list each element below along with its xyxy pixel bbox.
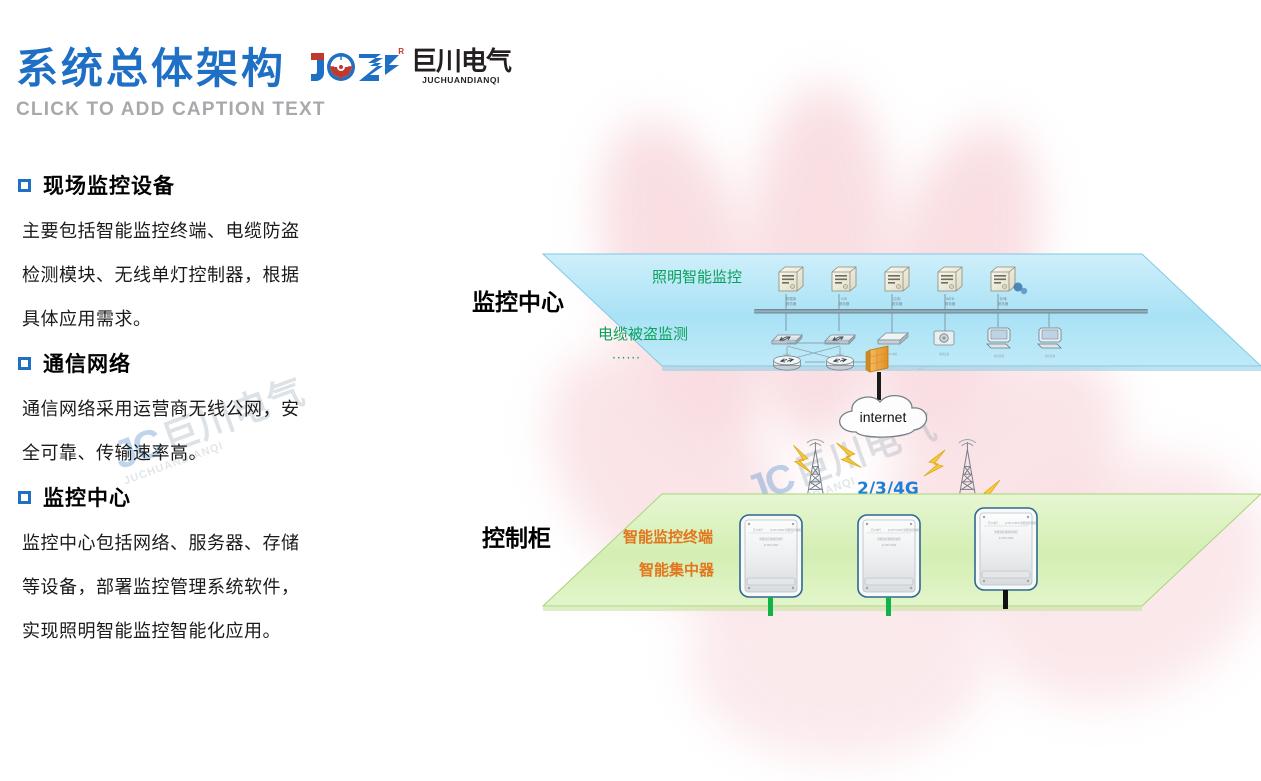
cable-connector [768, 597, 773, 616]
square-bullet-icon [18, 491, 31, 504]
page-header: 系统总体架构 CLICK TO ADD CAPTION TEXT [0, 0, 1261, 140]
section-body: 监控中心包括网络、服务器、存储 等设备，部署监控管理系统软件， 实现照明智能监控… [18, 522, 418, 654]
body-line: 等设备，部署监控管理系统软件， [22, 566, 418, 610]
lightning-bolt-icon [791, 445, 815, 473]
cell-tower-icon [959, 440, 976, 494]
top-tag-lighting: 照明智能监控 [652, 268, 742, 286]
svg-text:智能监控终端控制柜: 智能监控终端控制柜 [994, 530, 1018, 534]
server-icon [779, 267, 803, 291]
section-header: 监控中心 [18, 482, 418, 512]
svg-text:WEB: WEB [946, 297, 955, 301]
power-device-icon [934, 331, 954, 345]
network-bus [754, 309, 1148, 314]
server-icon [938, 267, 962, 291]
body-line: 实现照明智能监控智能化应用。 [22, 610, 418, 654]
top-platform-label: 监控中心 [472, 289, 564, 316]
svg-text:服务器: 服务器 [998, 301, 1009, 306]
router-icon [774, 356, 801, 370]
top-tag-more: ······ [612, 351, 641, 365]
storage-icon [1021, 288, 1027, 294]
svg-text:服务器: 服务器 [839, 301, 850, 306]
svg-text:智能监控终端控制柜: 智能监控终端控制柜 [759, 537, 783, 541]
bottom-platform-label: 控制柜 [482, 525, 551, 552]
svg-text:智能监控终端控制柜: 智能监控终端控制柜 [877, 537, 901, 541]
workstation-icon [1038, 328, 1061, 348]
brand-name-en: JUCHUANDIANQI [411, 75, 511, 85]
svg-text:JC-RTU-860 智能监控终端: JC-RTU-860 智能监控终端 [887, 528, 919, 532]
page-title: 系统总体架构 [16, 35, 286, 96]
architecture-diagram: 监控中心 照明智能监控 电缆被盗监测 ······ 数据库 服务器 GIS 服务… [440, 150, 1261, 710]
server-icon [991, 267, 1015, 291]
svg-text:监控终端: 监控终端 [994, 354, 1005, 358]
router-icon [827, 356, 854, 370]
svg-text:电源设备: 电源设备 [939, 352, 950, 356]
registered-trademark-icon: R [398, 47, 404, 56]
body-line: 主要包括智能监控终端、电缆防盗 [22, 210, 418, 254]
server-icon [832, 267, 856, 291]
svg-text:JC-RTU-860 智能监控终端: JC-RTU-860 智能监控终端 [1004, 521, 1036, 525]
cloud-label: internet [860, 409, 907, 425]
section-title: 监控中心 [43, 482, 131, 512]
section-title: 现场监控设备 [43, 170, 175, 200]
svg-text:JC-RTU-860 智能监控终端: JC-RTU-860 智能监控终端 [769, 528, 801, 532]
svg-text:GIS: GIS [841, 297, 848, 301]
server-icon [885, 267, 909, 291]
bottom-tag-concentrator: 智能集中器 [639, 561, 715, 579]
svg-text:JC-RTU-860: JC-RTU-860 [763, 543, 779, 547]
lightning-bolt-icon [924, 450, 945, 476]
svg-text:服务器: 服务器 [945, 301, 956, 306]
square-bullet-icon [18, 357, 31, 370]
svg-text:监控终端: 监控终端 [1045, 354, 1056, 358]
svg-text:应用: 应用 [893, 296, 901, 301]
workstation-icon [987, 328, 1010, 348]
body-line: 通信网络采用运营商无线公网，安 [22, 388, 418, 432]
lightning-bolt-icon [837, 441, 862, 470]
section-body: 通信网络采用运营商无线公网，安 全可靠、传输速率高。 [18, 388, 418, 476]
content-list: 现场监控设备 主要包括智能监控终端、电缆防盗 检测模块、无线单灯控制器，根据 具… [18, 170, 418, 660]
section-block: 现场监控设备 主要包括智能监控终端、电缆防盗 检测模块、无线单灯控制器，根据 具… [18, 170, 418, 342]
body-line: 监控中心包括网络、服务器、存储 [22, 522, 418, 566]
cable-connector [886, 597, 891, 616]
brand-name-cn: 巨川电气 [411, 49, 511, 75]
caption-placeholder: CLICK TO ADD CAPTION TEXT [16, 99, 326, 121]
svg-text:数据库: 数据库 [786, 296, 797, 301]
section-header: 通信网络 [18, 348, 418, 378]
section-title: 通信网络 [43, 348, 131, 378]
top-tag-cable: 电缆被盗监测 [598, 325, 688, 343]
svg-text:服务器: 服务器 [786, 301, 797, 306]
body-line: 具体应用需求。 [22, 298, 418, 342]
body-line: 检测模块、无线单灯控制器，根据 [22, 254, 418, 298]
section-block: 通信网络 通信网络采用运营商无线公网，安 全可靠、传输速率高。 [18, 348, 418, 476]
svg-text:JC-RTU-860: JC-RTU-860 [881, 543, 897, 547]
cell-tower-icon [807, 440, 824, 494]
body-line: 全可靠、传输速率高。 [22, 432, 418, 476]
section-header: 现场监控设备 [18, 170, 418, 200]
brand-logo: R 巨川电气 JUCHUANDIANQI [307, 47, 511, 87]
cable-connector [1003, 590, 1008, 609]
svg-text:存储: 存储 [999, 296, 1007, 301]
svg-text:JC-RTU-860: JC-RTU-860 [998, 536, 1014, 540]
square-bullet-icon [18, 179, 31, 192]
svg-text:巨川电气: 巨川电气 [753, 528, 764, 532]
section-block: 监控中心 监控中心包括网络、服务器、存储 等设备，部署监控管理系统软件， 实现照… [18, 482, 418, 654]
section-body: 主要包括智能监控终端、电缆防盗 检测模块、无线单灯控制器，根据 具体应用需求。 [18, 210, 418, 342]
svg-text:服务器: 服务器 [892, 301, 903, 306]
svg-text:UPS电源: UPS电源 [887, 352, 898, 356]
svg-text:巨川电气: 巨川电气 [988, 521, 999, 525]
jc-logo-icon: R [307, 49, 403, 85]
internet-cloud: internet [840, 396, 927, 437]
bottom-tag-terminal: 智能监控终端 [623, 528, 713, 546]
svg-text:巨川电气: 巨川电气 [871, 528, 882, 532]
